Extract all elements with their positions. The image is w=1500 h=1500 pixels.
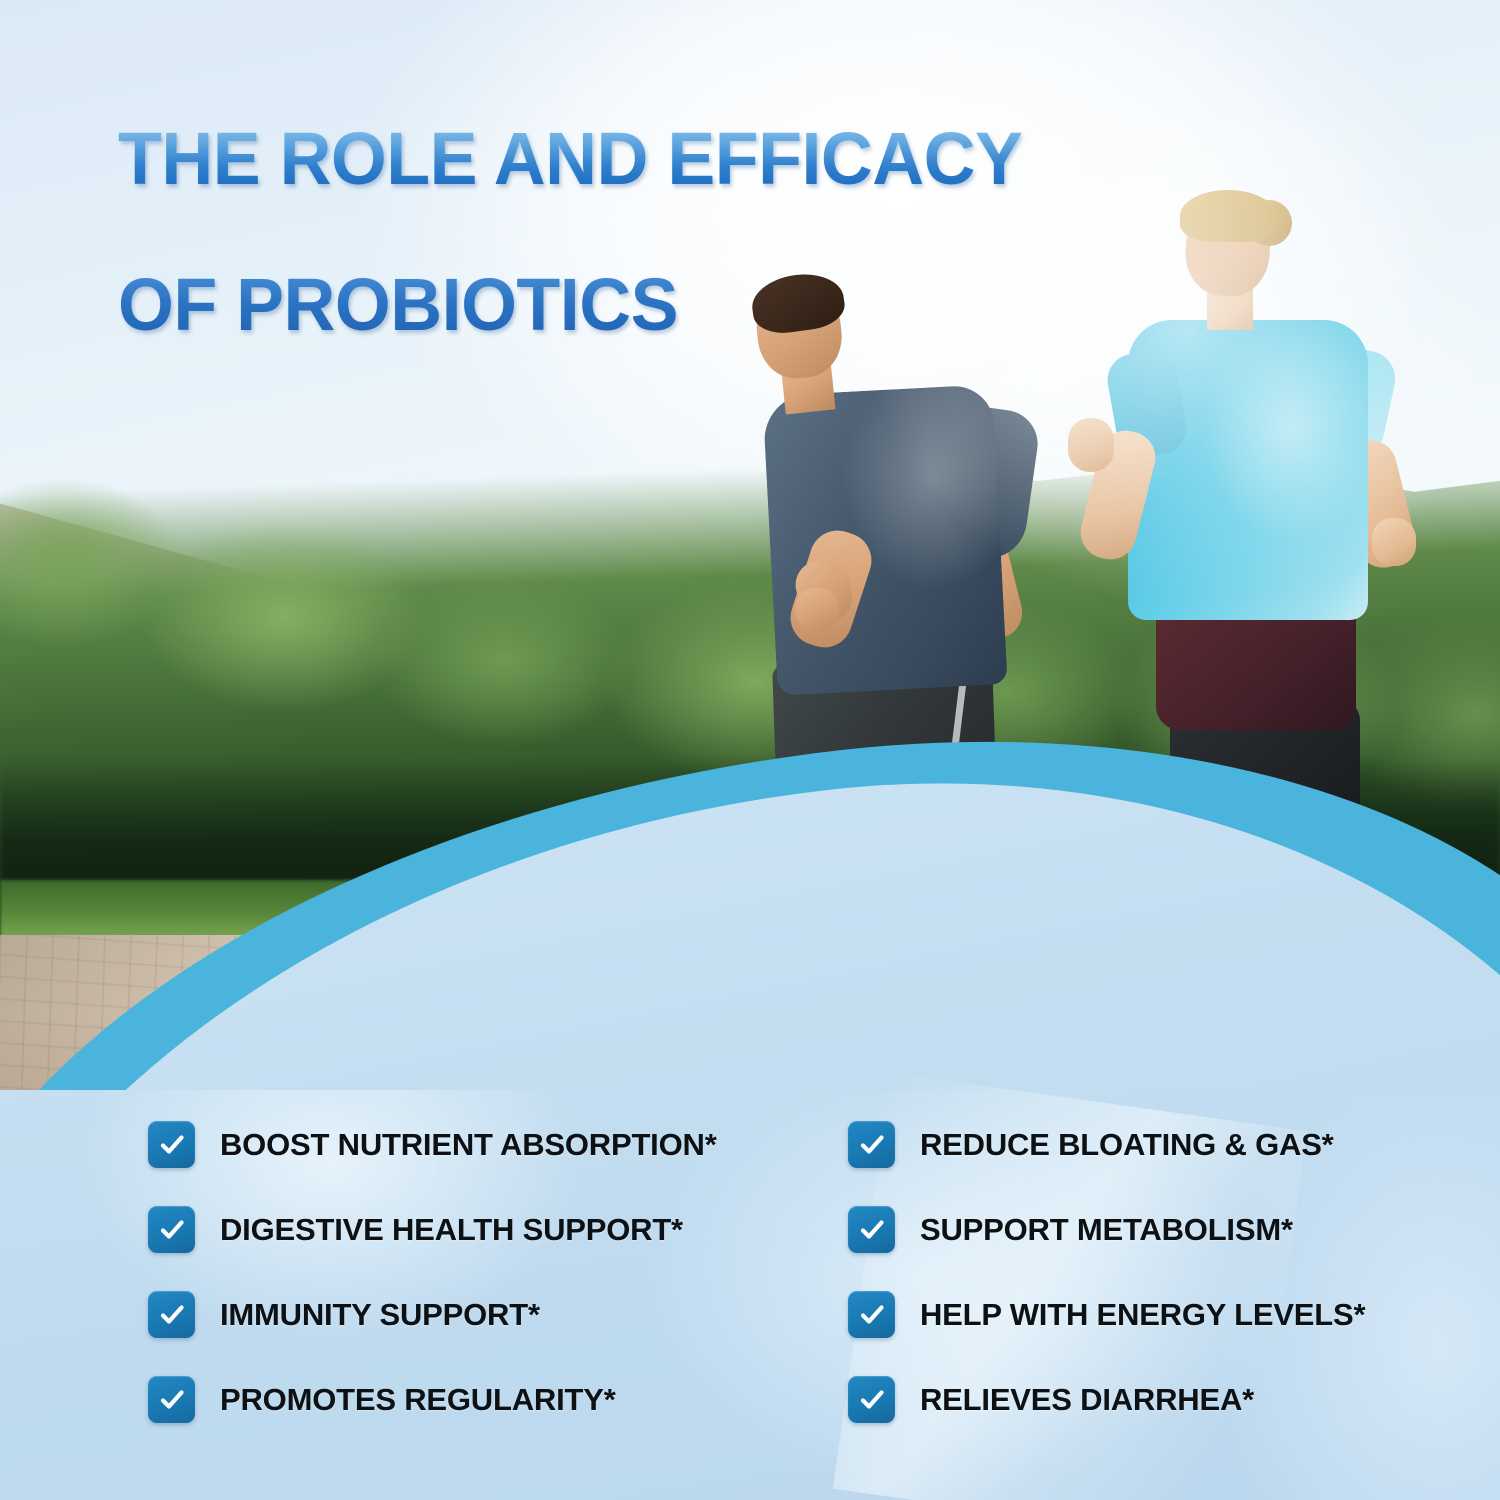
benefits-right-column: REDUCE BLOATING & GAS* SUPPORT METABOLIS… bbox=[848, 1120, 1365, 1460]
benefit-item: DIGESTIVE HEALTH SUPPORT* bbox=[148, 1205, 717, 1254]
check-icon bbox=[848, 1121, 895, 1168]
check-icon bbox=[148, 1121, 195, 1168]
page-title-line-1: THE ROLE AND EFFICACY bbox=[118, 123, 1022, 194]
benefit-label: IMMUNITY SUPPORT* bbox=[220, 1297, 540, 1333]
benefit-label: SUPPORT METABOLISM* bbox=[920, 1212, 1293, 1248]
benefit-item: RELIEVES DIARRHEA* bbox=[848, 1375, 1365, 1424]
check-icon bbox=[848, 1376, 895, 1423]
check-icon bbox=[848, 1206, 895, 1253]
benefit-label: PROMOTES REGULARITY* bbox=[220, 1382, 616, 1418]
page-title-line-2: OF PROBIOTICS bbox=[118, 269, 1022, 340]
page-title: THE ROLE AND EFFICACY OF PROBIOTICS bbox=[118, 52, 1022, 411]
female-runner-right-fist bbox=[1372, 518, 1416, 566]
male-runner-shirt bbox=[762, 384, 1007, 696]
benefits-left-column: BOOST NUTRIENT ABSORPTION* DIGESTIVE HEA… bbox=[148, 1120, 717, 1460]
benefit-label: HELP WITH ENERGY LEVELS* bbox=[920, 1297, 1365, 1333]
check-icon bbox=[148, 1291, 195, 1338]
benefit-label: DIGESTIVE HEALTH SUPPORT* bbox=[220, 1212, 683, 1248]
benefit-label: RELIEVES DIARRHEA* bbox=[920, 1382, 1254, 1418]
check-icon bbox=[848, 1291, 895, 1338]
check-icon bbox=[148, 1376, 195, 1423]
benefit-item: PROMOTES REGULARITY* bbox=[148, 1375, 717, 1424]
benefit-item: SUPPORT METABOLISM* bbox=[848, 1205, 1365, 1254]
female-runner-left-fist bbox=[1068, 418, 1114, 472]
female-runner-hair bbox=[1180, 190, 1276, 242]
benefit-item: BOOST NUTRIENT ABSORPTION* bbox=[148, 1120, 717, 1169]
probiotics-infographic: THE ROLE AND EFFICACY OF PROBIOTICS BOOS… bbox=[0, 0, 1500, 1500]
benefit-label: BOOST NUTRIENT ABSORPTION* bbox=[220, 1127, 717, 1163]
benefit-item: HELP WITH ENERGY LEVELS* bbox=[848, 1290, 1365, 1339]
benefit-label: REDUCE BLOATING & GAS* bbox=[920, 1127, 1334, 1163]
benefit-item: IMMUNITY SUPPORT* bbox=[148, 1290, 717, 1339]
benefit-item: REDUCE BLOATING & GAS* bbox=[848, 1120, 1365, 1169]
check-icon bbox=[148, 1206, 195, 1253]
male-runner-fist bbox=[795, 588, 839, 630]
